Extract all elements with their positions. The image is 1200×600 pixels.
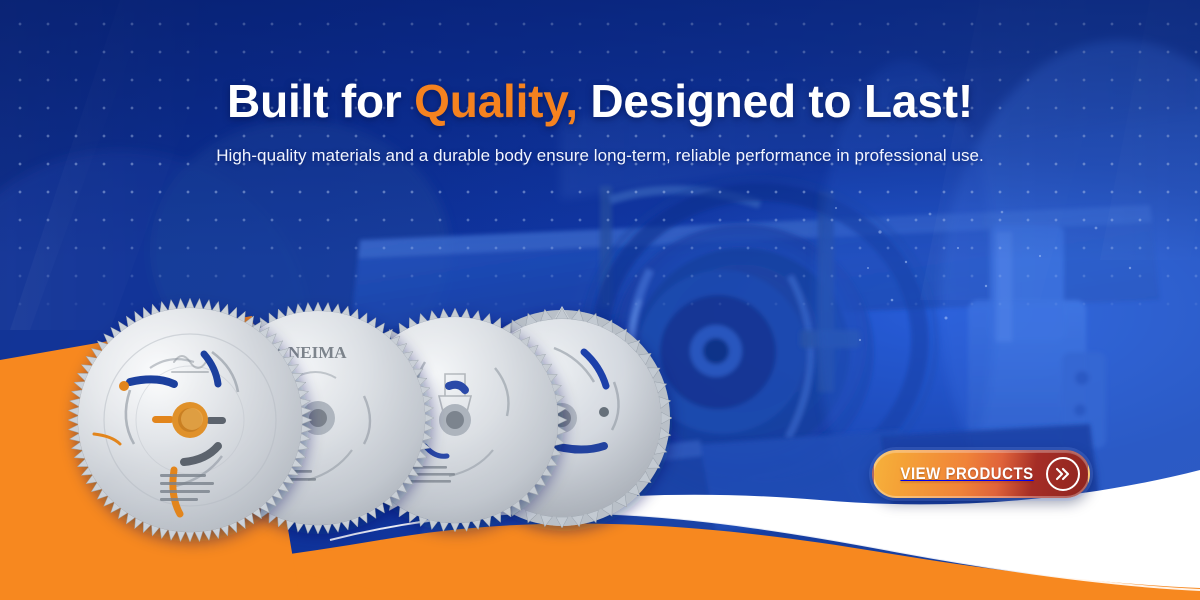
hero-banner: NEIMA bbox=[0, 0, 1200, 600]
headline-part-1: Built for bbox=[227, 75, 414, 127]
view-products-button[interactable]: VIEW PRODUCTS bbox=[872, 450, 1090, 498]
headline-accent: Quality, bbox=[414, 75, 578, 127]
headline-part-2: Designed to Last! bbox=[578, 75, 973, 127]
subheadline: High-quality materials and a durable bod… bbox=[0, 146, 1200, 166]
page-title: Built for Quality, Designed to Last! bbox=[0, 74, 1200, 128]
view-products-label: VIEW PRODUCTS bbox=[884, 464, 1035, 484]
double-chevron-right-icon bbox=[1046, 457, 1080, 491]
